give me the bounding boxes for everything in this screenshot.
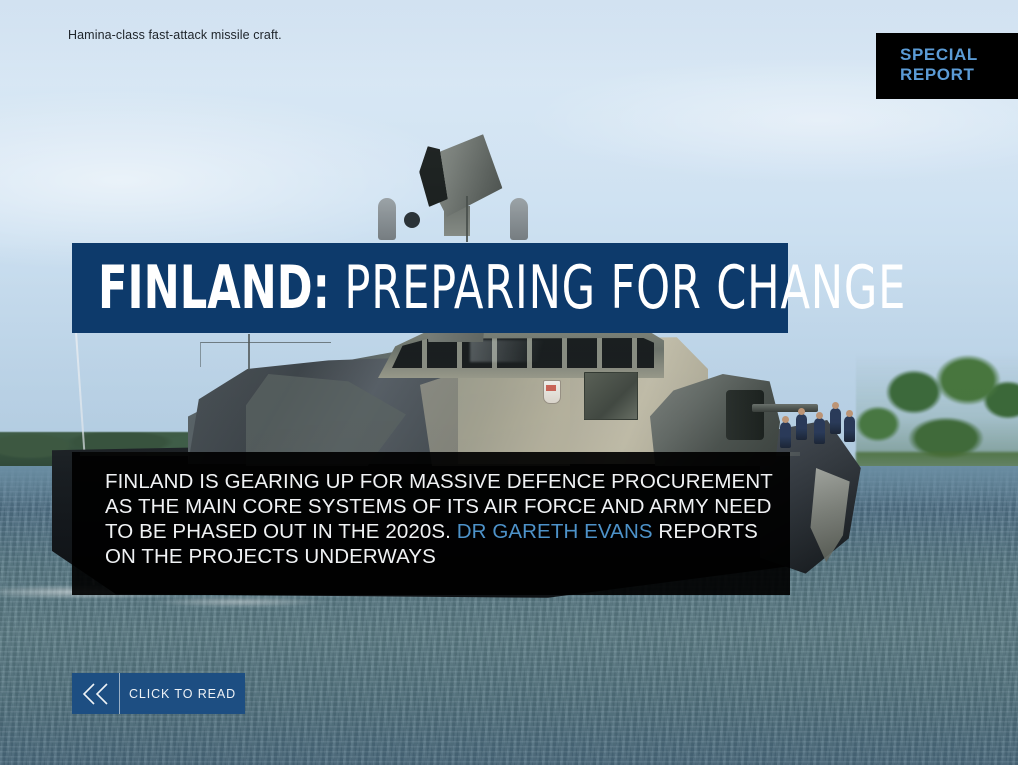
author-name[interactable]: DR GARETH EVANS [457, 520, 653, 543]
bridge-window-glint [470, 340, 590, 362]
standfirst-text: FINLAND IS GEARING UP FOR MASSIVE DEFENC… [105, 469, 777, 569]
page-title: FINLAND: PREPARING FOR CHANGE [98, 255, 906, 321]
badge-line-1: SPECIAL [900, 45, 978, 65]
crew-member [780, 422, 791, 448]
sensor-pod-right [510, 198, 528, 240]
double-chevron-left-icon [72, 673, 120, 714]
special-report-badge: SPECIAL REPORT [876, 33, 1018, 99]
secondary-mast [248, 334, 250, 370]
page-title-rest: PREPARING FOR CHANGE [330, 253, 906, 323]
naval-vessel [0, 0, 1018, 765]
crew-group [780, 402, 856, 456]
click-to-read-button[interactable]: CLICK TO READ [72, 673, 245, 714]
image-caption: Hamina-class fast-attack missile craft. [68, 28, 282, 42]
hull-hatch [584, 372, 638, 420]
standfirst-box: FINLAND IS GEARING UP FOR MASSIVE DEFENC… [72, 452, 790, 595]
whip-antenna [466, 196, 468, 242]
sensor-pod-left [378, 198, 396, 240]
click-to-read-label: CLICK TO READ [120, 687, 245, 701]
ship-crest-emblem [543, 380, 561, 404]
crew-member [814, 418, 825, 444]
title-bar: FINLAND: PREPARING FOR CHANGE [72, 243, 788, 333]
optronic-ball [404, 212, 420, 228]
hero-photo [0, 0, 1018, 765]
page-title-lead: FINLAND: [98, 253, 330, 323]
hero-page: Hamina-class fast-attack missile craft. … [0, 0, 1018, 765]
special-report-badge-text: SPECIAL REPORT [900, 45, 978, 85]
badge-line-2: REPORT [900, 65, 978, 85]
crew-member [830, 408, 841, 434]
gun-turret-face [726, 390, 764, 440]
crew-member [844, 416, 855, 442]
deck-railing [200, 342, 331, 367]
crew-member [796, 414, 807, 440]
